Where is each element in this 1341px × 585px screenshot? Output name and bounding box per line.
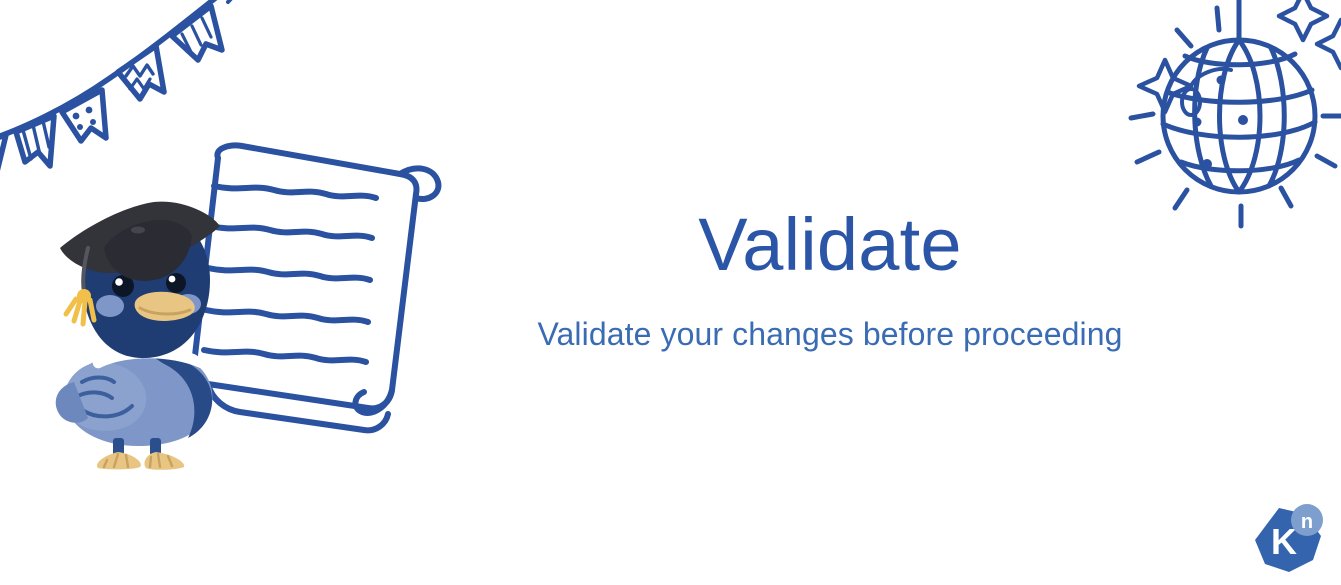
slide-text-block: Validate Validate your changes before pr… bbox=[470, 205, 1190, 353]
logo-badge-letter: n bbox=[1301, 511, 1313, 533]
page-title: Validate bbox=[470, 205, 1190, 285]
brand-logo[interactable]: K n bbox=[1249, 500, 1329, 578]
discoball-decoration bbox=[1119, 0, 1341, 239]
slide-canvas: Validate Validate your changes before pr… bbox=[0, 0, 1341, 585]
mascot-bird bbox=[52, 186, 237, 471]
page-subtitle: Validate your changes before proceeding bbox=[470, 316, 1190, 353]
